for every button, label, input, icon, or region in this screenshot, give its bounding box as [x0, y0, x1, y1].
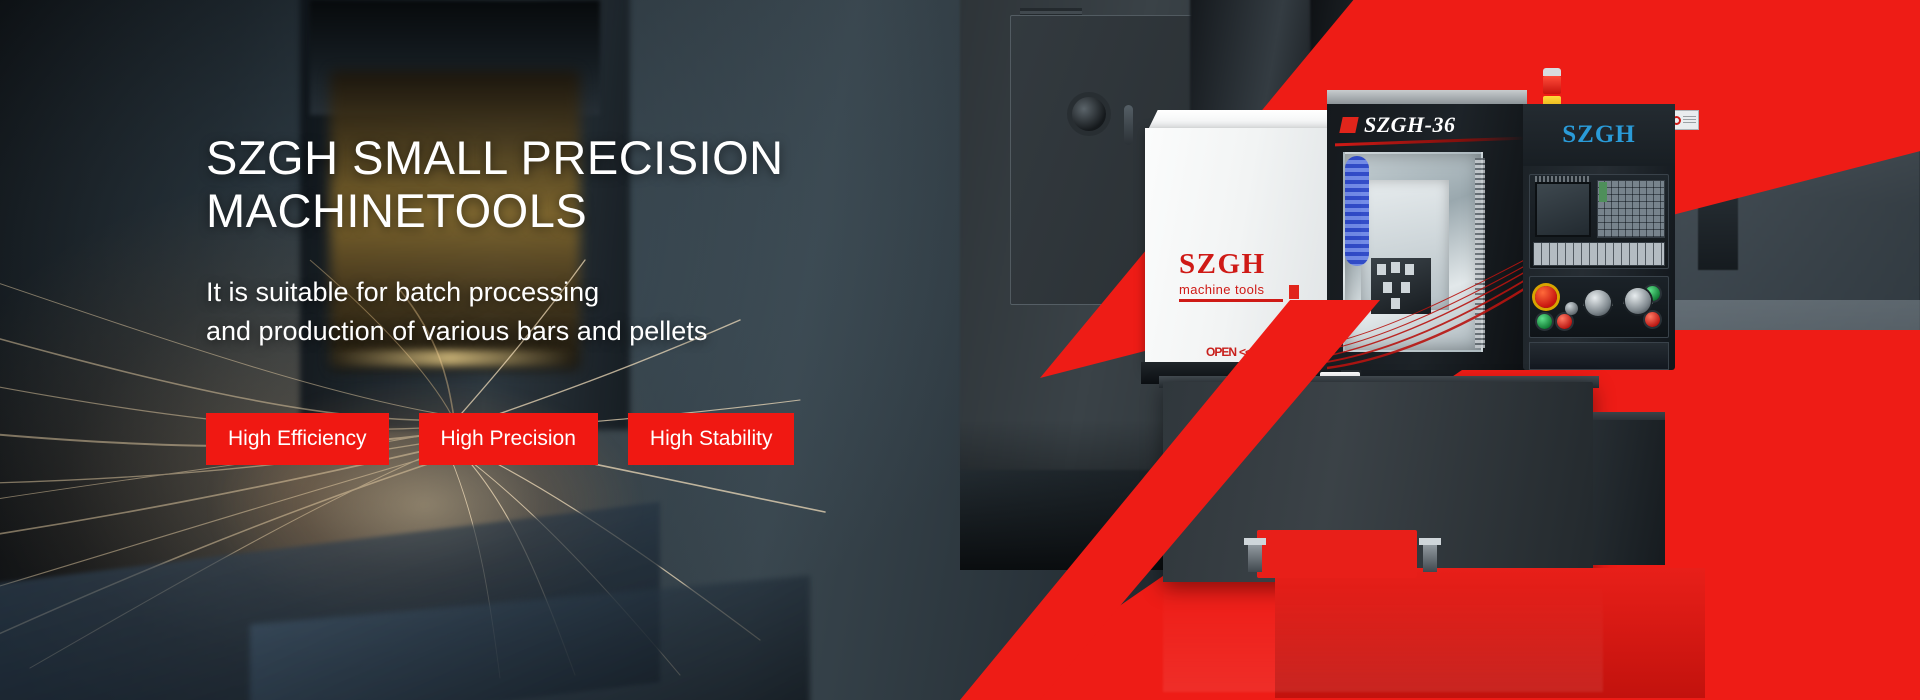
door-open-text: OPEN — [1206, 345, 1236, 359]
badge-high-efficiency[interactable]: High Efficiency — [206, 413, 389, 465]
machine-door-top-strip — [1327, 90, 1527, 104]
hero-banner: SZGH machine tools OPEN<<< SZGH-36 — [0, 0, 1920, 700]
cnc-keypad[interactable] — [1597, 180, 1665, 238]
controller-brand-logo: SZGH — [1562, 121, 1635, 149]
emergency-stop-button[interactable] — [1535, 286, 1557, 308]
feed-override-dial[interactable] — [1585, 290, 1611, 316]
cabinet-knob-icon — [1072, 97, 1106, 131]
brand-logo-sub: machine tools — [1179, 282, 1283, 297]
signal-light-red — [1543, 76, 1561, 94]
feature-badge-group: High Efficiency High Precision High Stab… — [206, 413, 926, 465]
cnc-display-screen[interactable] — [1535, 182, 1591, 237]
page-title: SZGH SMALL PRECISION MACHINETOOLS — [206, 132, 926, 237]
machine-floor-reflection — [1163, 582, 1603, 692]
model-badge-text: SZGH-36 — [1364, 112, 1456, 138]
controller-header: SZGH — [1523, 104, 1675, 166]
brand-logo-square-icon — [1289, 285, 1299, 299]
banner-content: SZGH SMALL PRECISION MACHINETOOLS It is … — [206, 132, 926, 465]
subtitle-line-1: It is suitable for batch processing — [206, 273, 926, 311]
brand-logo-rule — [1179, 299, 1283, 302]
machine-perforated-strip — [1475, 158, 1485, 348]
coolant-coil-hose — [1345, 156, 1369, 266]
brand-logo-main: SZGH — [1179, 250, 1299, 279]
subtitle-line-2: and production of various bars and pelle… — [206, 312, 926, 350]
badge-high-precision[interactable]: High Precision — [419, 413, 598, 465]
badge-high-stability[interactable]: High Stability — [628, 413, 795, 465]
spindle-override-dial[interactable] — [1625, 288, 1651, 314]
chip-tray-red — [1257, 530, 1417, 578]
leveling-foot-left — [1248, 542, 1262, 572]
tool-turret — [1371, 258, 1431, 314]
start-button-green[interactable] — [1537, 314, 1552, 329]
cabinet-handle-icon — [1124, 105, 1133, 145]
leveling-foot-right — [1423, 542, 1437, 572]
mode-key-switch[interactable] — [1565, 302, 1578, 315]
stop-button-red[interactable] — [1557, 314, 1572, 329]
model-badge-square-icon — [1339, 117, 1358, 133]
machine-brand-logo: SZGH machine tools — [1179, 250, 1299, 302]
signal-tower-cap — [1543, 68, 1561, 76]
chip-conveyor-box — [1593, 420, 1665, 565]
machine-model-badge: SZGH-36 — [1341, 112, 1456, 138]
aux-button-red[interactable] — [1645, 312, 1660, 327]
cnc-keypad-green-keys[interactable] — [1599, 182, 1607, 202]
controller-lower-vent — [1529, 342, 1669, 370]
cnc-lathe-illustration: SZGH machine tools OPEN<<< SZGH-36 — [1145, 90, 1705, 620]
banner-subtitle: It is suitable for batch processing and … — [206, 273, 926, 350]
cnc-softkey-row[interactable] — [1533, 242, 1665, 266]
